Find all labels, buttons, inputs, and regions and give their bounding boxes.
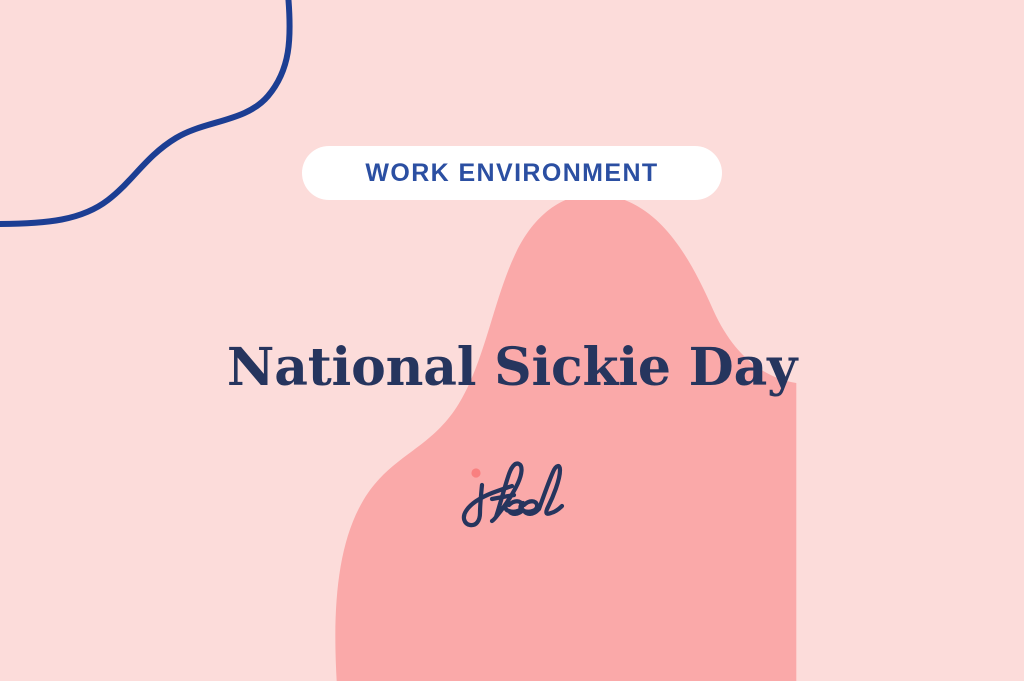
poster-canvas: WORK ENVIRONMENT National Sickie Day ife…	[0, 0, 1024, 681]
category-badge[interactable]: WORK ENVIRONMENT	[302, 146, 722, 200]
category-badge-label: WORK ENVIRONMENT	[365, 161, 658, 186]
page-title: National Sickie Day	[0, 340, 1024, 396]
logo-i-dot	[471, 468, 480, 477]
brand-logo[interactable]: ifeel	[452, 455, 572, 531]
logo-letter-l	[539, 466, 562, 514]
